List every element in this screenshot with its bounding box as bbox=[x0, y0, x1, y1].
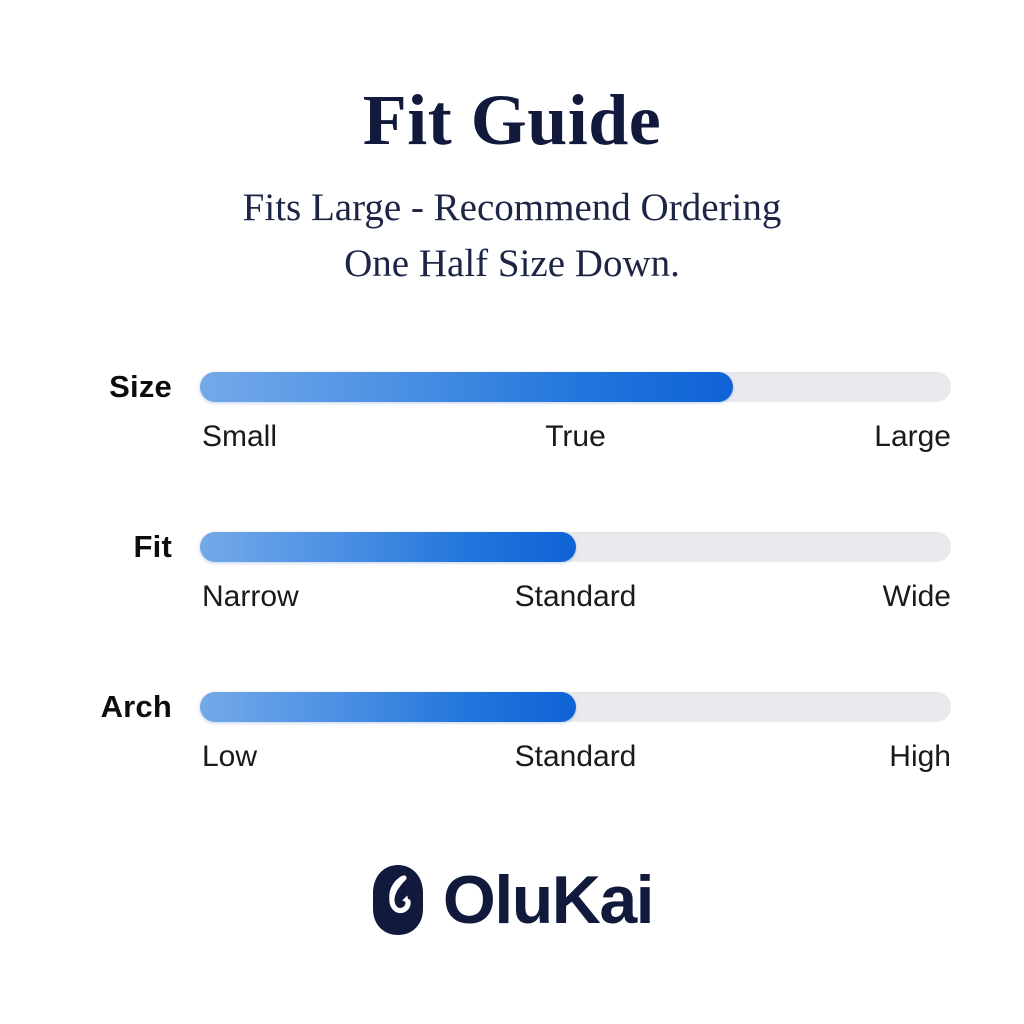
fit-row-size: Size Small True Large bbox=[0, 372, 1024, 532]
arch-slider-fill bbox=[200, 692, 576, 722]
size-slider-fill bbox=[200, 372, 733, 402]
fit-scales: Size Small True Large Fit Narrow Standar… bbox=[0, 372, 1024, 852]
fit-recommendation-text: Fits Large - Recommend Ordering One Half… bbox=[0, 180, 1024, 292]
size-slider-track[interactable] bbox=[200, 372, 951, 402]
fit-guide-card: Fit Guide Fits Large - Recommend Orderin… bbox=[0, 0, 1024, 1024]
fit-slider-fill bbox=[200, 532, 576, 562]
fit-row-fit: Fit Narrow Standard Wide bbox=[0, 532, 1024, 692]
size-scale-right: Large bbox=[874, 416, 951, 458]
brand-name: OluKai bbox=[443, 864, 653, 936]
fit-slider-track[interactable] bbox=[200, 532, 951, 562]
arch-scale-labels: Low Standard High bbox=[200, 736, 951, 778]
header: Fit Guide Fits Large - Recommend Orderin… bbox=[0, 78, 1024, 292]
arch-scale-right: High bbox=[889, 736, 951, 778]
subtitle-line-1: Fits Large - Recommend Ordering bbox=[0, 180, 1024, 236]
fit-scale-labels: Narrow Standard Wide bbox=[200, 576, 951, 618]
fit-scale-right: Wide bbox=[883, 576, 951, 618]
brand-logo: OluKai bbox=[0, 864, 1024, 936]
row-label-fit: Fit bbox=[0, 530, 172, 564]
size-scale-mid: True bbox=[200, 416, 951, 458]
fit-scale-mid: Standard bbox=[200, 576, 951, 618]
page-title: Fit Guide bbox=[0, 78, 1024, 162]
size-scale-labels: Small True Large bbox=[200, 416, 951, 458]
row-label-size: Size bbox=[0, 370, 172, 404]
row-label-arch: Arch bbox=[0, 690, 172, 724]
olukai-fishhook-icon bbox=[371, 864, 425, 936]
arch-slider-track[interactable] bbox=[200, 692, 951, 722]
subtitle-line-2: One Half Size Down. bbox=[0, 236, 1024, 292]
arch-scale-mid: Standard bbox=[200, 736, 951, 778]
fit-row-arch: Arch Low Standard High bbox=[0, 692, 1024, 852]
